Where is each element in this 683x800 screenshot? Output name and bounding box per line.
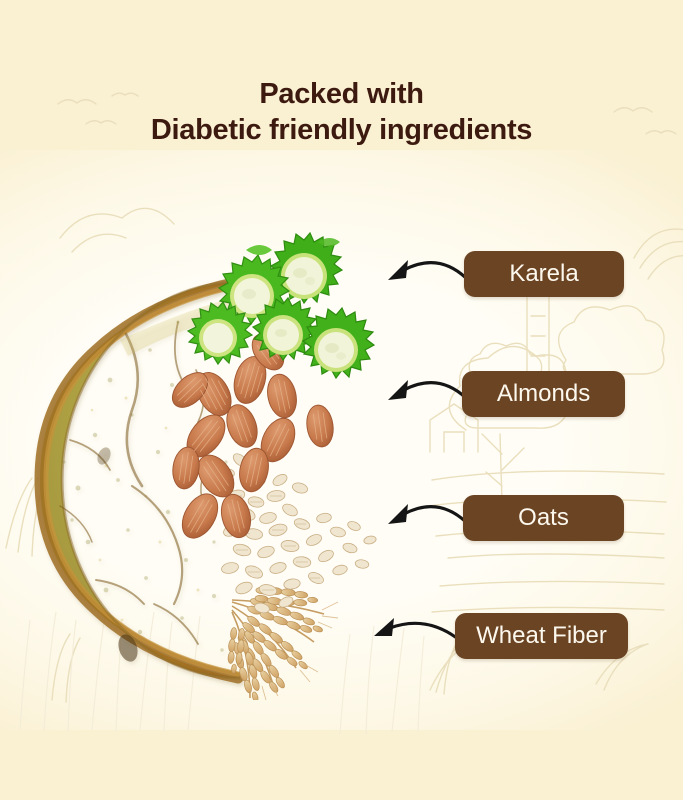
curved-arrow-left-icon [382, 492, 468, 532]
trees-sketch-icon [634, 229, 683, 279]
ingredient-label-text: Wheat Fiber [476, 624, 607, 648]
ingredient-infographic: Packed with Diabetic friendly ingredient… [0, 0, 683, 800]
curved-arrow-left-icon [382, 248, 468, 288]
field-sketch-icon [428, 471, 666, 612]
wheat-stalks-icon [226, 586, 338, 700]
half-cookie-icon [40, 282, 240, 678]
ingredient-label-almonds[interactable]: Almonds [462, 371, 625, 417]
grass-sketch-icon [20, 608, 424, 734]
title-line-1: Packed with [0, 76, 683, 112]
grass-sketch-icon [6, 478, 80, 702]
page-title: Packed with Diabetic friendly ingredient… [0, 76, 683, 148]
curved-arrow-left-icon [382, 368, 468, 408]
ingredient-label-karela[interactable]: Karela [464, 251, 624, 297]
karela-slices-icon [188, 233, 374, 378]
ingredient-label-text: Karela [509, 262, 578, 286]
ingredient-label-text: Oats [518, 506, 569, 530]
ingredient-label-text: Almonds [497, 382, 590, 406]
title-line-2: Diabetic friendly ingredients [0, 112, 683, 148]
curved-arrow-left-icon [368, 610, 464, 650]
trees-sketch-icon [60, 208, 174, 252]
trees-sketch-icon [449, 346, 576, 502]
ingredient-label-wheat-fiber[interactable]: Wheat Fiber [455, 613, 628, 659]
ingredient-label-oats[interactable]: Oats [463, 495, 624, 541]
product-illustration [0, 230, 420, 700]
oat-flakes-icon [217, 450, 377, 614]
almonds-icon [166, 328, 336, 544]
